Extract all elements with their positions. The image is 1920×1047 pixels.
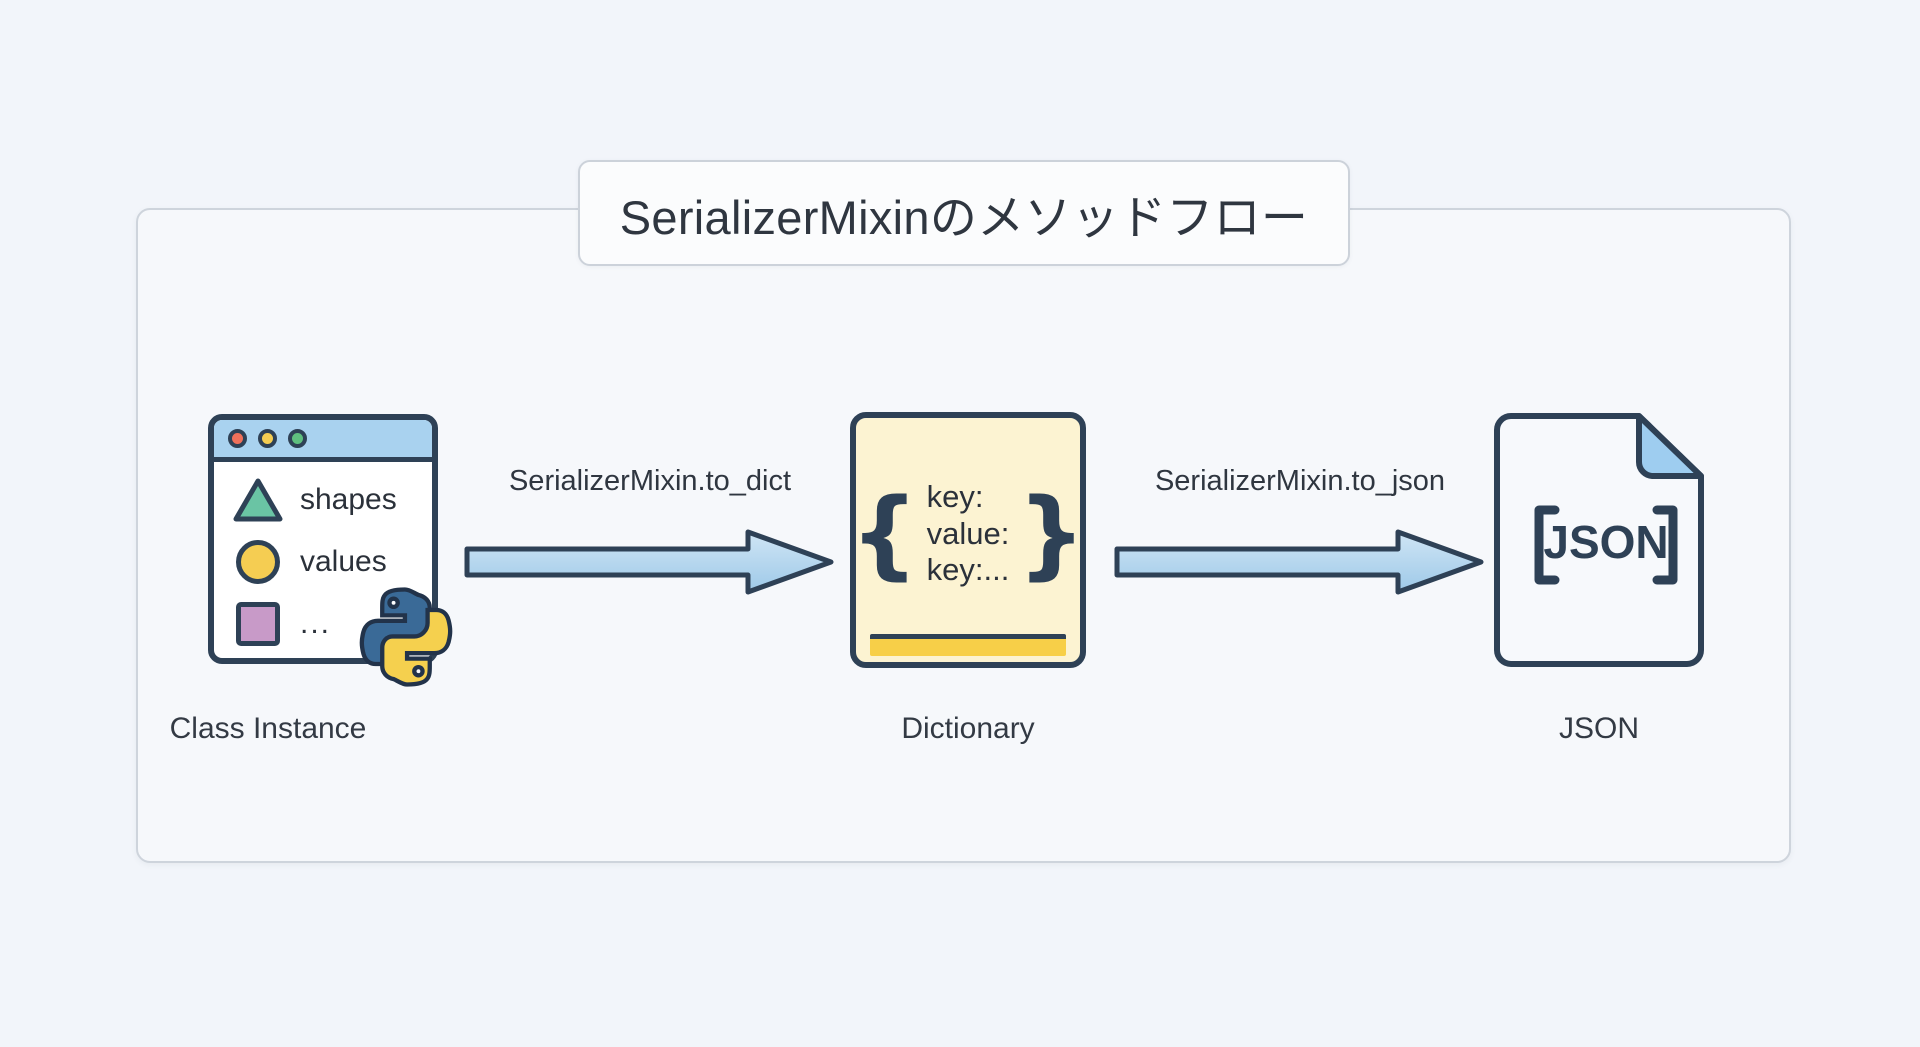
- arrow-2-label: SerializerMixin.to_json: [1050, 465, 1550, 498]
- square-icon: [232, 602, 284, 646]
- page-title: SerializerMixinのメソッドフロー: [620, 179, 1308, 248]
- attribute-row: values: [232, 538, 432, 586]
- node-caption-json: JSON: [1389, 712, 1809, 746]
- arrow-to-json: [1112, 527, 1486, 597]
- window-titlebar: [214, 420, 432, 462]
- dictionary-line: value:: [927, 516, 1010, 553]
- triangle-icon: [232, 477, 284, 523]
- dictionary-line: key:: [927, 479, 1010, 516]
- node-caption-dictionary: Dictionary: [758, 712, 1178, 746]
- attribute-label: values: [300, 545, 387, 579]
- json-label: JSON: [1543, 516, 1668, 568]
- dot-red-icon: [228, 429, 247, 448]
- json-document-icon: JSON: [1493, 412, 1705, 668]
- node-caption-class-instance: Class Instance: [58, 712, 478, 746]
- attribute-label: shapes: [300, 483, 397, 517]
- close-brace: }: [1017, 495, 1085, 574]
- dictionary-card: { key: value: key:... }: [850, 412, 1086, 668]
- node-dictionary: { key: value: key:... }: [850, 412, 1086, 668]
- attribute-label: ...: [300, 607, 331, 641]
- diagram-title-box: SerializerMixinのメソッドフロー: [578, 160, 1350, 266]
- dictionary-bottom-bar: [870, 634, 1066, 656]
- dictionary-lines: key: value: key:...: [927, 479, 1010, 589]
- dot-green-icon: [288, 429, 307, 448]
- node-json: JSON: [1493, 412, 1705, 668]
- circle-icon: [232, 540, 284, 584]
- dictionary-line: key:...: [927, 552, 1010, 589]
- dot-yellow-icon: [258, 429, 277, 448]
- arrow-1-label: SerializerMixin.to_dict: [400, 465, 900, 498]
- open-brace: {: [850, 495, 918, 574]
- arrow-to-dict: [462, 527, 836, 597]
- python-logo-icon: [352, 583, 460, 691]
